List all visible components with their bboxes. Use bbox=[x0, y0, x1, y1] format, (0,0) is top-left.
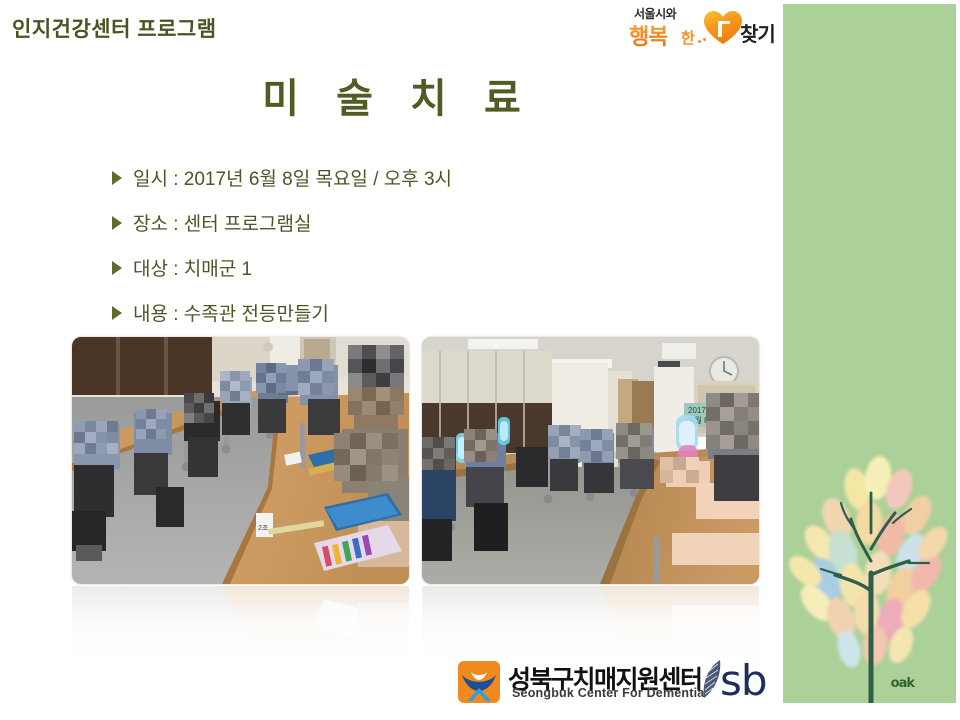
photo-left: 2조 bbox=[72, 337, 409, 584]
sb-wordmark: sb bbox=[720, 657, 767, 705]
photo-right: 2017년 6월 8일 bbox=[422, 337, 759, 584]
seoul-logo-han: 한 bbox=[681, 27, 695, 48]
list-item: 내용 : 수족관 전등만들기 bbox=[112, 290, 712, 335]
triangle-right-icon bbox=[112, 216, 122, 230]
decorative-green-panel: oak bbox=[783, 4, 956, 703]
list-item: 장소 : 센터 프로그램실 bbox=[112, 200, 712, 245]
page-title: 미 술 치 료 bbox=[0, 66, 783, 124]
list-item: 일시 : 2017년 6월 8일 목요일 / 오후 3시 bbox=[112, 155, 712, 200]
seoul-happiness-logo: 서울시와 행복 한 찾기 bbox=[627, 4, 782, 52]
svg-text:2조: 2조 bbox=[258, 524, 269, 532]
list-item-label: 대상 : 치매군 1 bbox=[133, 254, 252, 281]
seoul-logo-line2: 행복 bbox=[629, 19, 667, 51]
seongbuk-dementia-center-logo: 성북구치매지원센터 Seongbuk Center For Dementia s… bbox=[458, 658, 768, 710]
list-item-label: 내용 : 수족관 전등만들기 bbox=[133, 299, 329, 326]
slide-canvas: oak 인지건강센터 프로그램 서울시와 행복 한 찾기 미 술 치 료 bbox=[0, 0, 960, 720]
photo-right-reflection bbox=[422, 585, 759, 665]
triangle-right-icon bbox=[112, 261, 122, 275]
tree-illustration bbox=[783, 423, 956, 703]
triangle-right-icon bbox=[112, 306, 122, 320]
tree-glyph: oak bbox=[891, 676, 914, 691]
list-item: 대상 : 치매군 1 bbox=[112, 245, 712, 290]
center-mark-icon bbox=[458, 661, 500, 703]
list-item-label: 장소 : 센터 프로그램실 bbox=[133, 209, 311, 236]
heart-icon bbox=[703, 10, 743, 46]
triangle-right-icon bbox=[112, 171, 122, 185]
photo-left-reflection bbox=[72, 585, 409, 665]
seoul-logo-find: 찾기 bbox=[740, 18, 775, 47]
header-title: 인지건강센터 프로그램 bbox=[12, 13, 217, 43]
center-name-english: Seongbuk Center For Dementia bbox=[512, 686, 704, 700]
list-item-label: 일시 : 2017년 6월 8일 목요일 / 오후 3시 bbox=[133, 164, 452, 191]
info-list: 일시 : 2017년 6월 8일 목요일 / 오후 3시 장소 : 센터 프로그… bbox=[112, 155, 712, 335]
